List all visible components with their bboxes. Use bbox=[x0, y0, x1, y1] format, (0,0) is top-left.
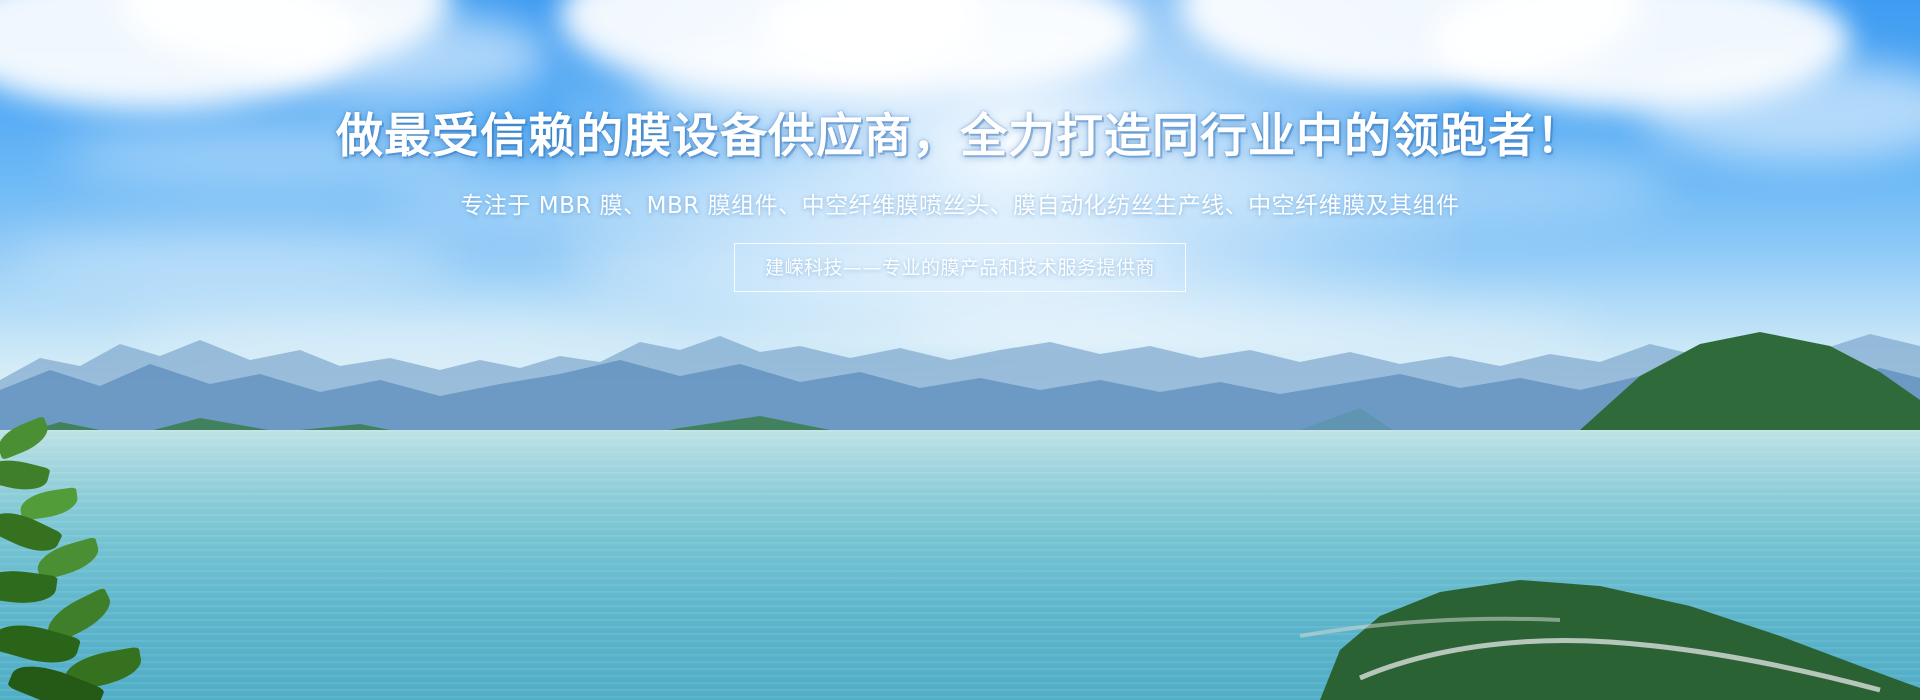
hero-banner: 做最受信赖的膜设备供应商，全力打造同行业中的领跑者！ 专注于 MBR 膜、MBR… bbox=[0, 0, 1920, 700]
foreground-foliage bbox=[0, 395, 180, 700]
right-bank-foreground bbox=[0, 440, 1920, 700]
